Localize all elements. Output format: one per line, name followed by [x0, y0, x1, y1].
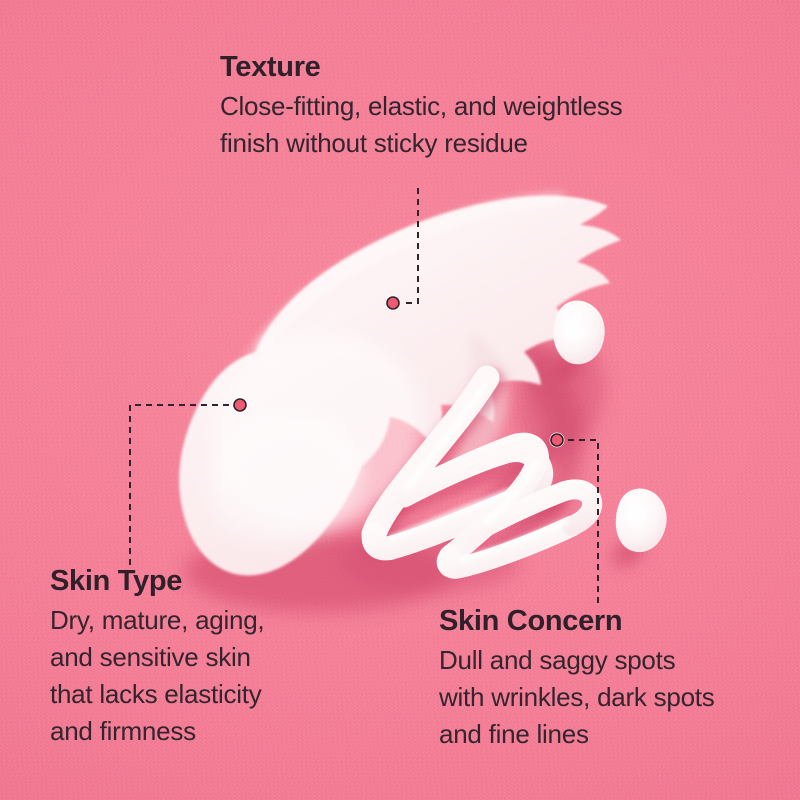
infographic-canvas: Texture Close-fitting, elastic, and weig… — [0, 0, 800, 800]
leader-line-skin-concern — [568, 440, 598, 606]
callout-texture-body-line-2: finish without sticky residue — [220, 128, 528, 158]
callout-texture: Texture Close-fitting, elastic, and weig… — [220, 52, 720, 162]
callout-skin-concern-body-line-2: with wrinkles, dark spots — [439, 682, 715, 712]
marker-dot-skin-concern[interactable] — [551, 434, 563, 446]
callout-skin-type-body-line-1: Dry, mature, aging, — [50, 605, 264, 635]
leader-line-skin-type — [130, 405, 229, 570]
marker-dot-skin-type[interactable] — [234, 399, 246, 411]
callout-skin-type: Skin Type Dry, mature, aging, and sensit… — [50, 566, 350, 750]
callout-skin-type-heading: Skin Type — [50, 566, 350, 597]
leader-line-texture — [404, 188, 418, 303]
callout-skin-concern-body-line-1: Dull and saggy spots — [439, 645, 675, 675]
callout-texture-body: Close-fitting, elastic, and weightless f… — [220, 88, 720, 162]
callout-skin-type-body: Dry, mature, aging, and sensitive skin t… — [50, 602, 350, 750]
marker-dot-texture[interactable] — [387, 297, 399, 309]
callout-texture-body-line-1: Close-fitting, elastic, and weightless — [220, 91, 622, 121]
callout-skin-concern: Skin Concern Dull and saggy spots with w… — [439, 606, 779, 753]
callout-markers — [233, 296, 565, 448]
callout-texture-heading: Texture — [220, 52, 720, 83]
callout-skin-concern-body: Dull and saggy spots with wrinkles, dark… — [439, 642, 779, 753]
callout-skin-type-body-line-2: and sensitive skin — [50, 642, 251, 672]
callout-skin-concern-heading: Skin Concern — [439, 606, 779, 637]
callout-skin-type-body-line-4: and firmness — [50, 716, 196, 746]
callout-skin-type-body-line-3: that lacks elasticity — [50, 679, 262, 709]
callout-skin-concern-body-line-3: and fine lines — [439, 719, 589, 749]
